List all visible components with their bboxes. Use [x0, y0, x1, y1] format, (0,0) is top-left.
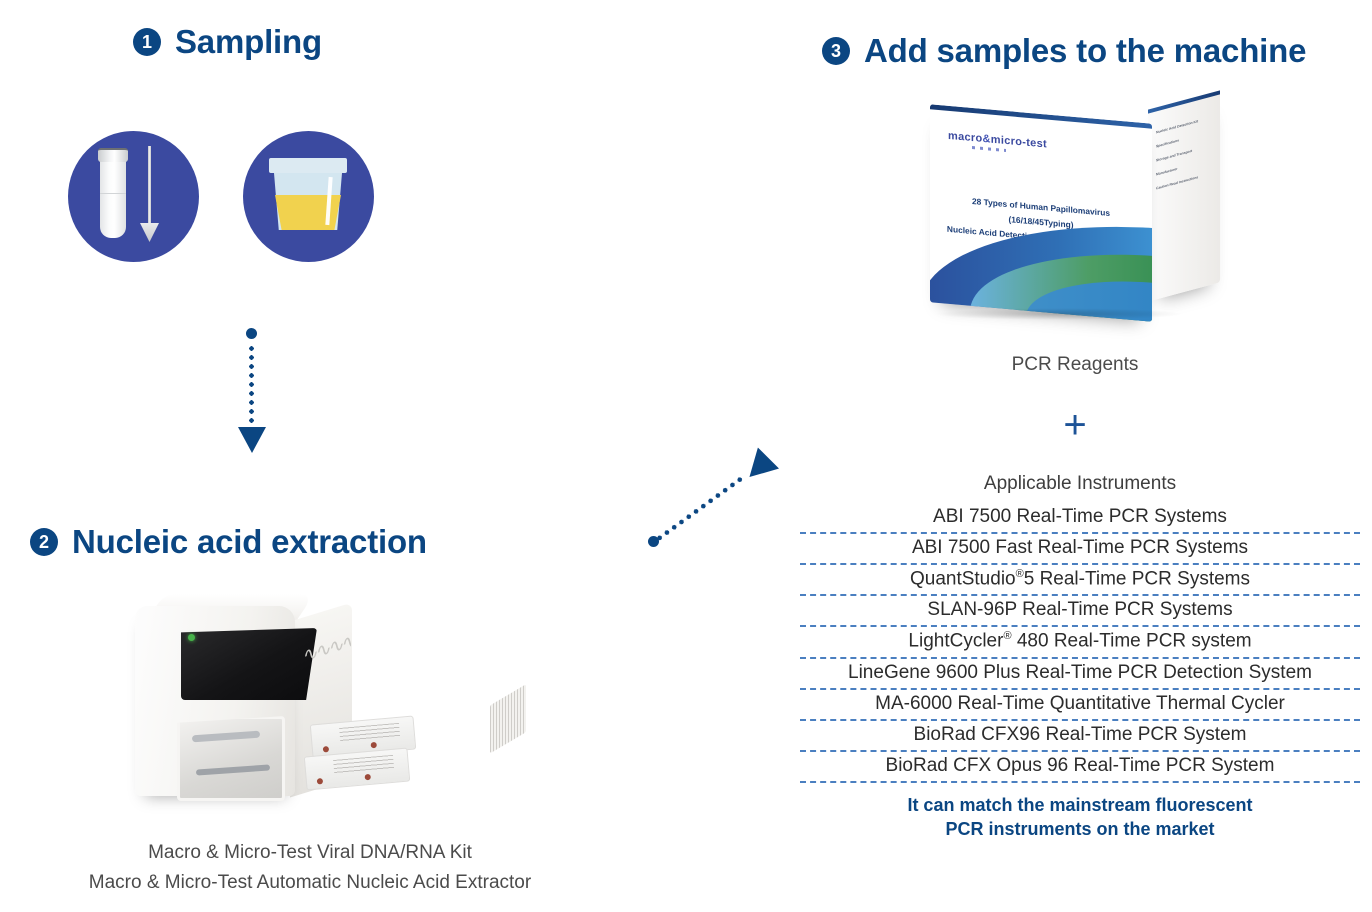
instruments-footer-note: It can match the mainstream fluorescent …	[800, 783, 1360, 841]
instrument-row: SLAN-96P Real-Time PCR Systems	[800, 596, 1360, 627]
swab-tip-icon	[140, 223, 159, 242]
power-led-icon	[188, 634, 195, 641]
collection-tube-icon	[100, 156, 126, 238]
cartridge-label-lines	[333, 755, 394, 774]
extractor-vent-icon	[490, 684, 526, 753]
kit-side-top-stripe	[1148, 90, 1220, 113]
extraction-caption-line-2: Macro & Micro-Test Automatic Nucleic Aci…	[0, 868, 620, 898]
extractor-door-window	[177, 716, 285, 801]
kit-box-shadow	[934, 308, 1184, 320]
tube-graduation-line	[100, 193, 126, 194]
extraction-caption: Macro & Micro-Test Viral DNA/RNA Kit Mac…	[0, 838, 620, 898]
instrument-row: QuantStudio®5 Real-Time PCR Systems	[800, 565, 1360, 596]
sampling-icon-group	[68, 131, 374, 262]
extraction-caption-line-1: Macro & Micro-Test Viral DNA/RNA Kit	[0, 838, 620, 868]
extractor-touchscreen	[181, 628, 317, 700]
instrument-row: BioRad CFX96 Real-Time PCR System	[800, 721, 1360, 752]
instruments-footer-line-2: PCR instruments on the market	[800, 817, 1360, 841]
arrow-sampling-to-extraction-icon	[233, 328, 269, 453]
swab-stick-icon	[148, 146, 151, 226]
logo-dots-icon	[972, 146, 1006, 152]
cartridge-well-dot	[317, 778, 324, 785]
step-title-extraction: Nucleic acid extraction	[72, 523, 427, 561]
instrument-row: LightCycler® 480 Real-Time PCR system	[800, 627, 1360, 658]
cartridge-label-lines	[339, 723, 400, 742]
arrow-start-dot	[246, 328, 257, 339]
swab-tube-icon	[68, 131, 199, 262]
nucleic-acid-extractor-image: ∿∿∿∿	[100, 588, 430, 828]
kit-front-top-stripe	[930, 104, 1152, 128]
kit-box-front-panel: macro&micro-test 28 Types of Human Papil…	[930, 104, 1152, 321]
kit-side-text: Nucleic Acid Detection Kit Specification…	[1156, 116, 1208, 200]
instrument-row: ABI 7500 Fast Real-Time PCR Systems	[800, 534, 1360, 565]
arrow-dotted-line	[655, 475, 745, 543]
extractor-inner-rail-bottom	[196, 764, 270, 775]
pcr-reagent-kit-box-image: Nucleic Acid Detection Kit Specification…	[908, 96, 1248, 331]
step-number-badge-3: 3	[822, 37, 850, 65]
step-heading-extraction: 2 Nucleic acid extraction	[30, 523, 427, 561]
step-heading-add-samples: 3 Add samples to the machine	[822, 32, 1306, 70]
step-title-sampling: Sampling	[175, 23, 322, 61]
extractor-body	[135, 606, 295, 796]
logo-text-left: macro	[948, 130, 983, 145]
step-heading-sampling: 1 Sampling	[133, 23, 322, 61]
arrow-head-triangle	[238, 427, 266, 453]
step-number-badge-2: 2	[30, 528, 58, 556]
logo-ampersand-icon: &	[983, 133, 991, 146]
applicable-instruments-title: Applicable Instruments	[800, 473, 1360, 503]
plus-icon: +	[860, 405, 1290, 445]
arrow-head-triangle	[739, 447, 779, 487]
reagent-cartridge-group	[305, 716, 423, 794]
cup-fill-icon	[275, 195, 341, 230]
arrow-extraction-to-add-samples-icon	[648, 452, 783, 552]
cartridge-well-dot	[370, 742, 377, 749]
cartridge-well-dot	[364, 774, 371, 781]
cartridge-well-dot	[323, 746, 330, 753]
kit-box-side-panel: Nucleic Acid Detection Kit Specification…	[1148, 90, 1220, 301]
instrument-row: BioRad CFX Opus 96 Real-Time PCR System	[800, 752, 1360, 783]
instrument-row: LineGene 9600 Plus Real-Time PCR Detecti…	[800, 659, 1360, 690]
instruments-footer-line-1: It can match the mainstream fluorescent	[800, 793, 1360, 817]
pcr-reagents-caption: PCR Reagents	[860, 350, 1290, 380]
instrument-row: ABI 7500 Real-Time PCR Systems	[800, 503, 1360, 534]
applicable-instruments-list: Applicable Instruments ABI 7500 Real-Tim…	[800, 473, 1360, 841]
extractor-inner-rail-top	[192, 731, 260, 743]
step-number-badge-1: 1	[133, 28, 161, 56]
arrow-dotted-line	[249, 344, 254, 426]
instrument-row: MA-6000 Real-Time Quantitative Thermal C…	[800, 690, 1360, 721]
tube-cap-icon	[98, 148, 128, 162]
cup-lid-icon	[269, 158, 347, 173]
step-title-add-samples: Add samples to the machine	[864, 32, 1306, 70]
urine-cup-icon	[243, 131, 374, 262]
